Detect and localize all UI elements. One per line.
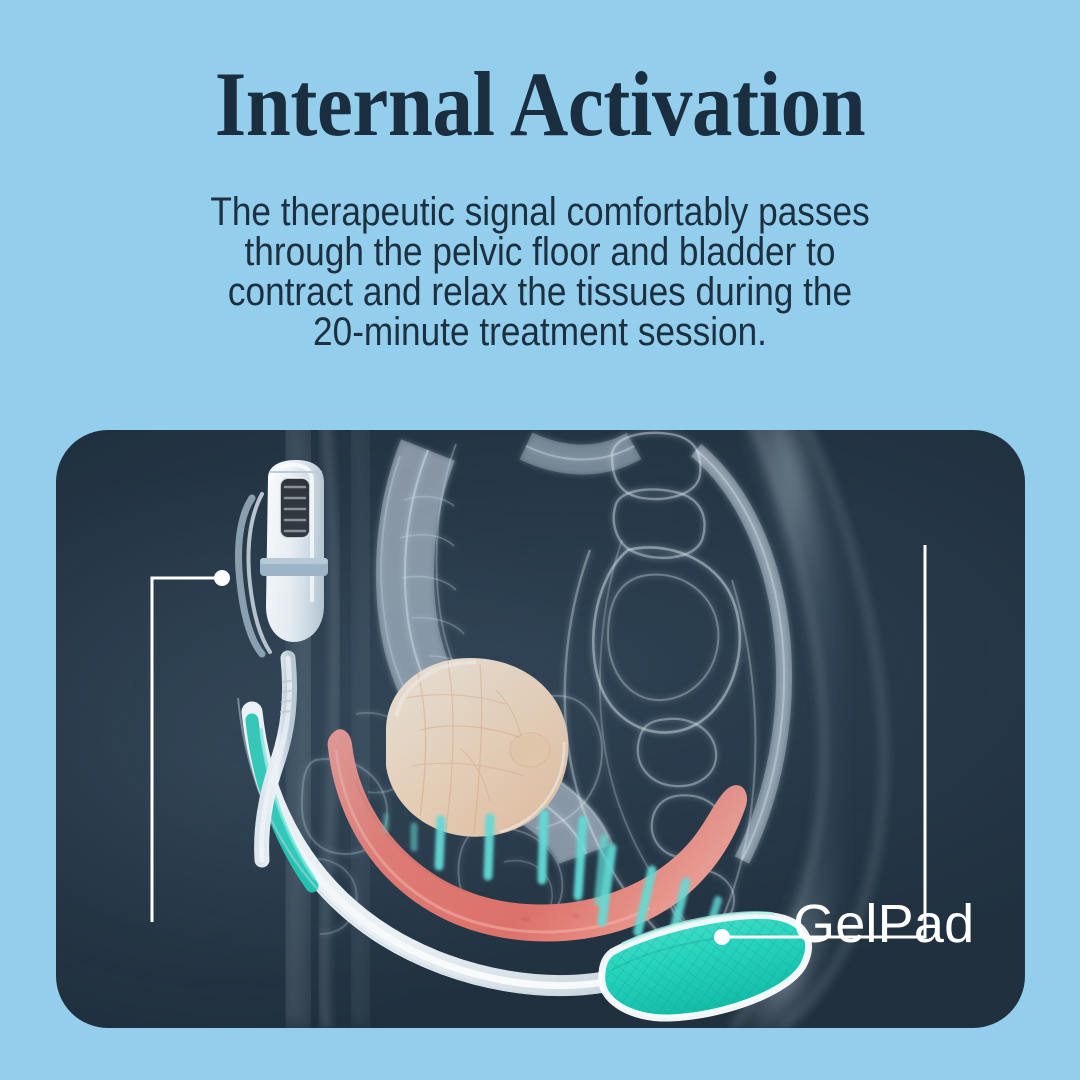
page-subtitle: The therapeutic signal comfortably passe… — [177, 192, 902, 352]
infographic-canvas: Internal Activation The therapeutic sign… — [0, 0, 1080, 1080]
callout-label-gelpad: GelPad — [793, 897, 974, 951]
page-title: Internal Activation — [65, 58, 1015, 150]
illustration-panel: GelPad Controller — [56, 430, 1025, 1028]
bladder — [386, 658, 568, 837]
